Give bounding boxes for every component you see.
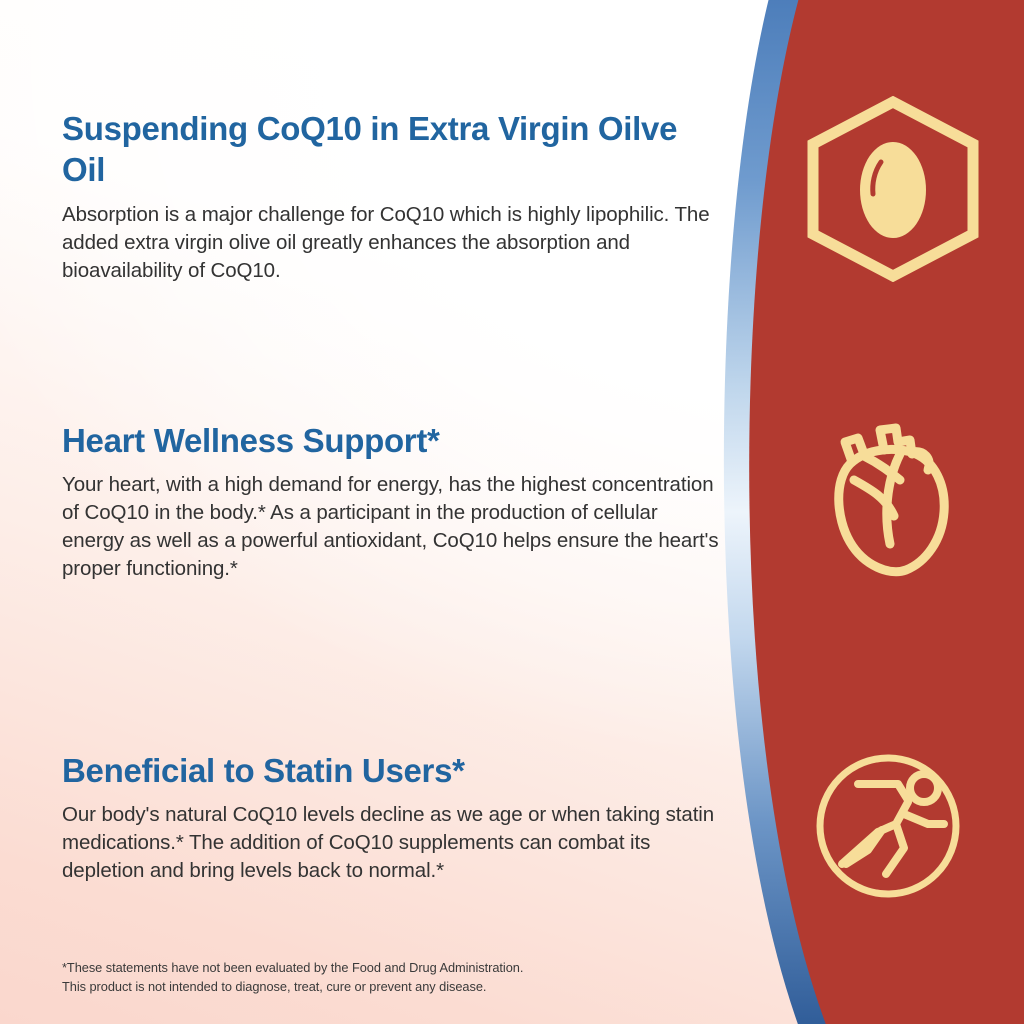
- anatomical-heart-icon: [828, 420, 968, 578]
- section-heading: Beneficial to Statin Users*: [62, 750, 722, 791]
- olive-in-hexagon-icon: [805, 96, 981, 282]
- section-suspending-coq10: Suspending CoQ10 in Extra Virgin Oilve O…: [62, 108, 722, 285]
- section-heading: Heart Wellness Support*: [62, 420, 722, 461]
- content-column: Suspending CoQ10 in Extra Virgin Oilve O…: [0, 0, 730, 1024]
- infographic-canvas: Suspending CoQ10 in Extra Virgin Oilve O…: [0, 0, 1024, 1024]
- running-person-in-circle-icon: [812, 752, 964, 900]
- section-heart-wellness: Heart Wellness Support* Your heart, with…: [62, 420, 722, 584]
- fda-disclaimer: *These statements have not been evaluate…: [62, 958, 682, 997]
- disclaimer-line-1: *These statements have not been evaluate…: [62, 958, 682, 977]
- section-body: Absorption is a major challenge for CoQ1…: [62, 201, 722, 285]
- section-body: Our body's natural CoQ10 levels decline …: [62, 801, 722, 885]
- section-heading: Suspending CoQ10 in Extra Virgin Oilve O…: [62, 108, 722, 191]
- disclaimer-line-2: This product is not intended to diagnose…: [62, 977, 682, 996]
- section-body: Your heart, with a high demand for energ…: [62, 471, 722, 583]
- section-statin-users: Beneficial to Statin Users* Our body's n…: [62, 750, 722, 885]
